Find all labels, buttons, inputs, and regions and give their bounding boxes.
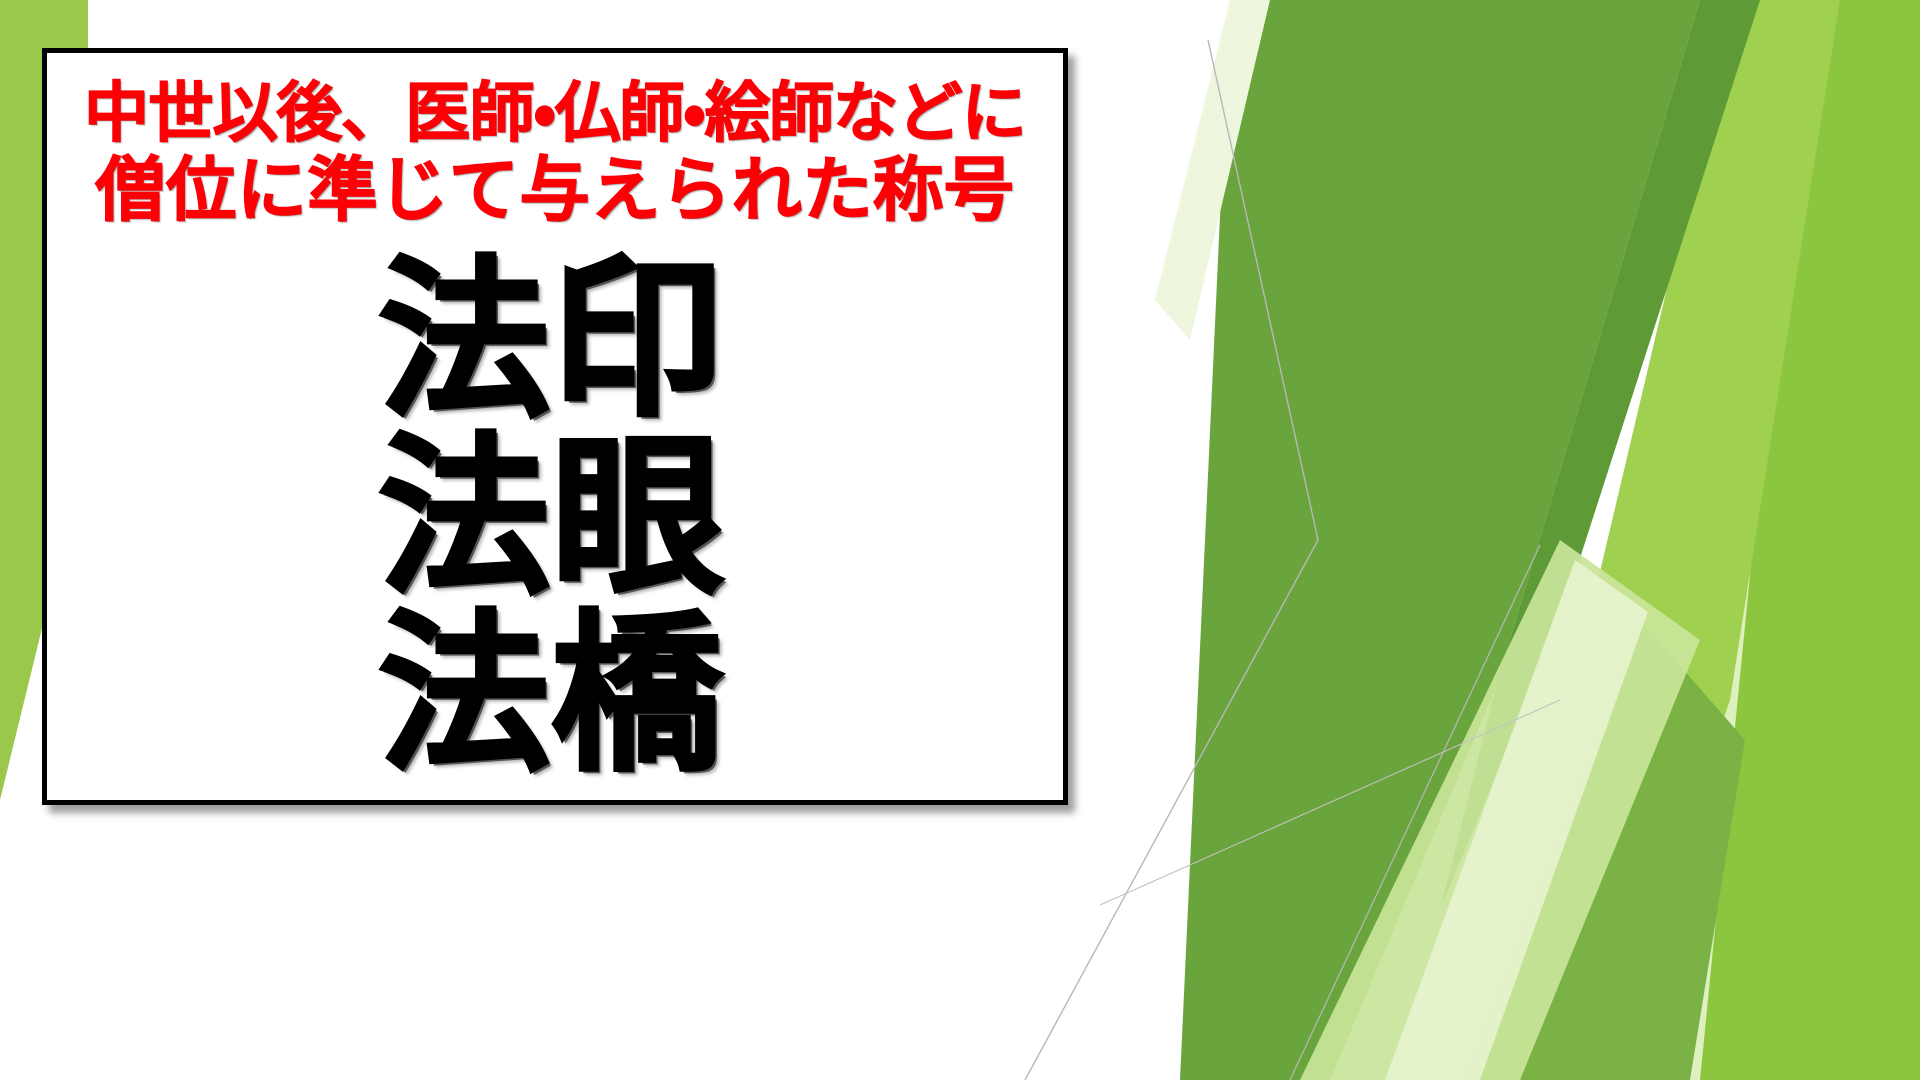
- facet-deep-shade: [1440, 0, 1760, 910]
- facet-light-sweep: [1300, 540, 1700, 1080]
- facet-pale-triangle: [1385, 560, 1648, 1080]
- facet-hairline-upper: [1208, 40, 1318, 540]
- facet-hairline-cross: [1290, 545, 1540, 1080]
- facet-upper-pale-wedge: [1155, 0, 1270, 340]
- heading-line-2: 僧位に準じて与えられた称号: [47, 150, 1063, 231]
- term-item-2: 法眼: [42, 430, 1063, 607]
- facet-dark-lower: [1460, 620, 1745, 1080]
- facet-faint-sliver: [1545, 0, 1920, 1080]
- facet-hairline-lower: [1025, 540, 1318, 1080]
- facet-mid-band: [1480, 0, 1840, 1080]
- facet-pale-wash: [1470, 250, 1920, 1080]
- heading-line-1: 中世以後、医師・仏師・絵師などに: [47, 75, 1063, 150]
- heading-block: 中世以後、医師・仏師・絵師などに 僧位に準じて与えられた称号: [47, 75, 1063, 232]
- content-card: 中世以後、医師・仏師・絵師などに 僧位に準じて与えられた称号 法印 法眼 法橋: [42, 48, 1068, 805]
- term-item-1: 法印: [42, 253, 1063, 430]
- facet-hairline-flat: [1100, 700, 1560, 905]
- facet-dark-diagonal: [1180, 0, 1700, 1080]
- slide-canvas: 中世以後、医師・仏師・絵師などに 僧位に準じて与えられた称号 法印 法眼 法橋: [0, 0, 1920, 1080]
- facet-bright-right-band: [1700, 0, 1920, 1080]
- term-list: 法印 法眼 法橋: [47, 253, 1063, 784]
- term-item-3: 法橋: [42, 607, 1063, 784]
